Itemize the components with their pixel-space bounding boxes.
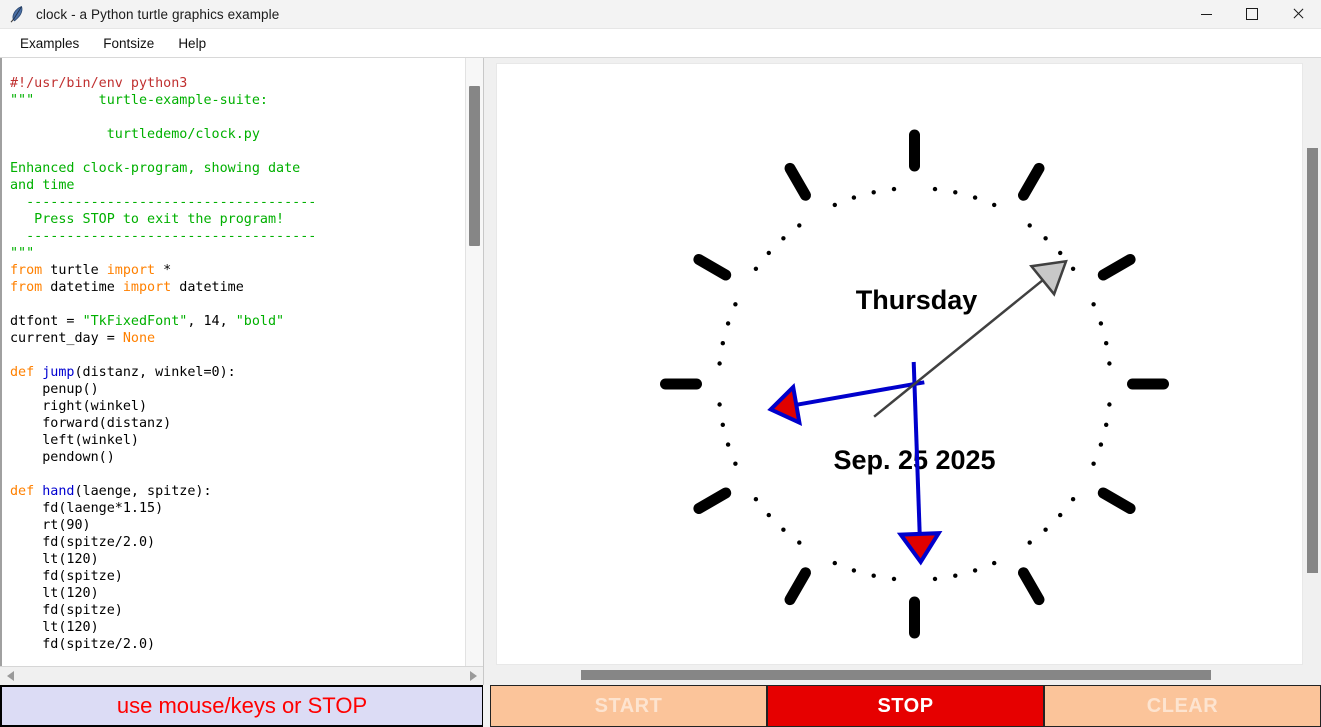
minute-dot	[1071, 497, 1075, 501]
code-pane: #!/usr/bin/env python3 """ turtle-exampl…	[0, 58, 484, 685]
hour-marker	[790, 573, 806, 600]
minute-dot	[767, 513, 771, 517]
code-horizontal-scroll-track[interactable]	[20, 667, 463, 685]
close-icon	[1292, 8, 1304, 20]
close-button[interactable]	[1275, 0, 1321, 28]
minute-dot	[973, 568, 977, 572]
bottom-bar: use mouse/keys or STOP START STOP CLEAR	[0, 685, 1321, 727]
minute-dot	[797, 223, 801, 227]
minute-dot	[992, 203, 996, 207]
hour-marker	[790, 168, 806, 195]
minute-dot	[754, 497, 758, 501]
hour-marker	[1103, 493, 1130, 509]
minute-dot	[767, 251, 771, 255]
hour-marker	[699, 260, 726, 276]
clear-button[interactable]: CLEAR	[1044, 685, 1321, 727]
pane-divider-handle[interactable]	[484, 58, 491, 685]
minute-dot	[1043, 236, 1047, 240]
source-code-view[interactable]: #!/usr/bin/env python3 """ turtle-exampl…	[2, 71, 465, 652]
canvas-horizontal-scrollbar[interactable]	[496, 665, 1321, 685]
minute-dot	[872, 190, 876, 194]
minute-dot	[1058, 513, 1062, 517]
hour-marker	[1103, 260, 1130, 276]
minute-dot	[733, 302, 737, 306]
minute-dot	[717, 361, 721, 365]
minute-dot	[992, 561, 996, 565]
main-split: #!/usr/bin/env python3 """ turtle-exampl…	[0, 58, 1321, 685]
minute-dot	[1028, 540, 1032, 544]
minute-dot	[953, 574, 957, 578]
feather-icon	[0, 0, 34, 28]
scroll-right-arrow-icon[interactable]	[463, 667, 483, 685]
minimize-button[interactable]	[1183, 0, 1229, 28]
canvas-pane: Thursday Sep. 25 2025	[491, 58, 1321, 685]
menu-item-fontsize[interactable]: Fontsize	[93, 33, 164, 54]
menu-item-examples[interactable]: Examples	[10, 33, 89, 54]
minute-dot	[933, 187, 937, 191]
minute-dot	[892, 187, 896, 191]
clock-date-label: Sep. 25 2025	[833, 445, 995, 475]
minute-dot	[733, 462, 737, 466]
menu-item-help[interactable]: Help	[168, 33, 216, 54]
hour-hand-shaft	[796, 382, 924, 405]
minute-dot	[797, 540, 801, 544]
minute-dot	[1071, 267, 1075, 271]
minute-dot	[726, 321, 730, 325]
minute-dot	[717, 402, 721, 406]
code-scroll-area: #!/usr/bin/env python3 """ turtle-exampl…	[0, 58, 483, 666]
hour-marker	[699, 493, 726, 509]
minute-hand-tip	[901, 533, 939, 562]
minimize-icon	[1201, 14, 1212, 15]
window-title: clock - a Python turtle graphics example	[34, 7, 279, 22]
minute-dot	[1107, 402, 1111, 406]
clock-weekday-label: Thursday	[856, 285, 978, 315]
title-bar: clock - a Python turtle graphics example	[0, 0, 1321, 29]
minute-dot	[953, 190, 957, 194]
minute-dot	[1091, 302, 1095, 306]
code-vertical-scrollbar[interactable]	[465, 58, 483, 666]
minute-dot	[1107, 361, 1111, 365]
minute-dot	[726, 442, 730, 446]
minute-dot	[933, 577, 937, 581]
minute-dot	[1099, 442, 1103, 446]
minute-dot	[1043, 528, 1047, 532]
hour-marker	[1024, 168, 1040, 195]
turtle-canvas[interactable]: Thursday Sep. 25 2025	[496, 63, 1303, 665]
hour-hand-tip	[771, 387, 800, 423]
minute-dot	[852, 568, 856, 572]
control-button-group: START STOP CLEAR	[490, 685, 1321, 727]
maximize-icon	[1246, 8, 1258, 20]
minute-dot	[1104, 341, 1108, 345]
hour-marker	[1024, 573, 1040, 600]
minute-dot	[973, 195, 977, 199]
start-button[interactable]: START	[490, 685, 767, 727]
clock-graphic: Thursday Sep. 25 2025	[497, 64, 1302, 664]
minute-dot	[1058, 251, 1062, 255]
minute-dot	[721, 341, 725, 345]
second-hand-tip	[1031, 261, 1066, 294]
maximize-button[interactable]	[1229, 0, 1275, 28]
minute-dot	[781, 528, 785, 532]
code-horizontal-scrollbar[interactable]	[0, 666, 483, 685]
minute-dot	[1099, 321, 1103, 325]
minute-dot	[892, 577, 896, 581]
code-vertical-scroll-thumb[interactable]	[469, 86, 480, 246]
minute-dot	[833, 203, 837, 207]
minute-dot	[781, 236, 785, 240]
minute-dot	[1091, 462, 1095, 466]
minute-dot	[721, 423, 725, 427]
canvas-horizontal-scroll-thumb[interactable]	[581, 670, 1211, 680]
minute-dot	[1104, 423, 1108, 427]
menu-bar: Examples Fontsize Help	[0, 29, 1321, 58]
scroll-left-arrow-icon[interactable]	[0, 667, 20, 685]
canvas-row: Thursday Sep. 25 2025	[496, 63, 1321, 665]
minute-dot	[1028, 223, 1032, 227]
canvas-vertical-scroll-thumb[interactable]	[1307, 148, 1318, 573]
canvas-vertical-scrollbar[interactable]	[1303, 63, 1321, 665]
application-window: clock - a Python turtle graphics example…	[0, 0, 1321, 727]
stop-button[interactable]: STOP	[767, 685, 1044, 727]
status-bar: use mouse/keys or STOP	[0, 685, 483, 727]
minute-dot	[754, 267, 758, 271]
minute-dot	[852, 195, 856, 199]
minute-dot	[833, 561, 837, 565]
minute-dot	[872, 574, 876, 578]
